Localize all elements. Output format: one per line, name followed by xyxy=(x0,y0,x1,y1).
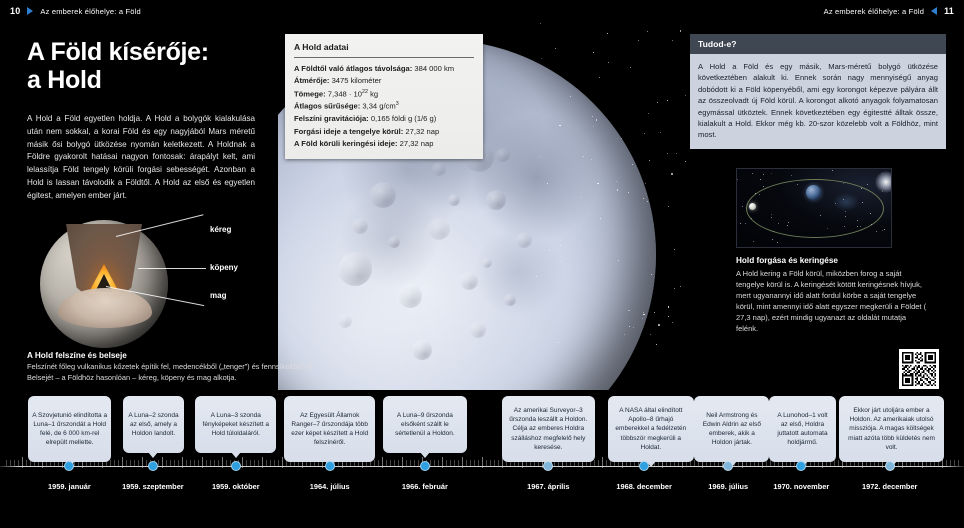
leader-line-mantle xyxy=(138,268,206,269)
moon-cutaway-diagram: kéreg köpeny mag xyxy=(32,218,282,348)
star xyxy=(549,249,551,251)
timeline-event-dot[interactable] xyxy=(796,461,806,471)
timeline-event-text: A NASA által elindított Apollo–8 űrhajó … xyxy=(612,406,690,452)
moon-crater xyxy=(516,232,532,248)
timeline-axis xyxy=(0,466,964,467)
timeline-event-text: A Lunohod–1 volt az első, Holdra juttato… xyxy=(773,411,831,448)
star xyxy=(778,223,779,224)
moon-fact-row: A Föld körüli keringési ideje: 27,32 nap xyxy=(294,138,474,150)
header-left: 10 Az emberek élőhelye: a Föld xyxy=(10,6,141,16)
star xyxy=(763,186,764,187)
star xyxy=(649,160,650,161)
star xyxy=(772,239,773,240)
star xyxy=(870,213,871,214)
star xyxy=(674,249,675,250)
moon-crater xyxy=(412,340,432,360)
triangle-left-icon[interactable] xyxy=(931,7,937,15)
star xyxy=(668,316,670,318)
star xyxy=(624,334,625,335)
moon-crater xyxy=(486,190,506,210)
timeline-event-dot[interactable] xyxy=(231,461,241,471)
star xyxy=(763,174,764,175)
timeline-event-dot[interactable] xyxy=(420,461,430,471)
moon-fact-label: Átmérője: xyxy=(294,76,332,85)
star xyxy=(860,226,861,227)
timeline-event-text: A Luna–3 szonda fényképeket készített a … xyxy=(199,411,272,439)
moon-facts-title: A Hold adatai xyxy=(294,42,474,57)
star xyxy=(676,153,677,154)
moon-crater xyxy=(370,182,396,208)
timeline-event-card[interactable]: A Szovjetunió elindította a Luna–1 űrszo… xyxy=(28,396,111,462)
star xyxy=(876,231,877,232)
star xyxy=(570,96,571,97)
star xyxy=(650,334,651,335)
star xyxy=(555,48,556,49)
timeline-event-text: A Luna–9 űrszonda elsőként szállt le sér… xyxy=(387,411,463,439)
star xyxy=(884,229,885,230)
star xyxy=(674,288,675,289)
star xyxy=(541,58,542,59)
star xyxy=(608,62,609,63)
moon-facts-rows: A Földtől való átlagos távolsága: 384 00… xyxy=(294,63,474,150)
orbit-caption-body: A Hold kering a Föld körül, miközben for… xyxy=(736,268,928,335)
timeline-event-text: Neil Armstrong és Edwin Aldrin az első e… xyxy=(698,411,765,448)
did-you-know-title: Tudod-e? xyxy=(690,34,946,54)
timeline-event-card[interactable]: A Luna–2 szonda az első, amely a Holdon … xyxy=(123,396,184,453)
star xyxy=(672,322,673,323)
moon-fact-value: 3,34 g/cm xyxy=(362,102,395,111)
moon-fact-row: Átmérője: 3475 kilométer xyxy=(294,75,474,87)
sun-glow-icon xyxy=(875,171,892,193)
page-spread: 10 Az emberek élőhelye: a Föld Az embere… xyxy=(0,0,964,528)
star xyxy=(647,31,648,32)
triangle-right-icon[interactable] xyxy=(27,7,33,15)
star xyxy=(657,102,658,103)
moon-crater xyxy=(388,236,400,248)
star xyxy=(672,40,673,41)
moon-fact-value: 3475 kilométer xyxy=(332,76,382,85)
moon-fact-value: 27,32 nap xyxy=(405,127,439,136)
cutaway-label-crust: kéreg xyxy=(210,225,231,234)
star xyxy=(658,324,660,326)
star xyxy=(685,161,686,162)
timeline-event-text: Az Egyesült Államok Ranger–7 űrszondája … xyxy=(288,411,371,448)
star xyxy=(827,228,828,229)
star xyxy=(667,100,668,101)
moon-fact-label: Tömege: xyxy=(294,89,328,98)
star xyxy=(656,344,657,345)
moon-fact-value: 7,348 · 10 xyxy=(328,89,362,98)
star xyxy=(753,241,754,242)
star xyxy=(560,261,561,262)
star xyxy=(621,138,622,139)
intro-paragraph: A Hold a Föld egyetlen holdja. A Hold a … xyxy=(27,113,255,202)
moon-crater xyxy=(504,294,516,306)
star xyxy=(633,327,634,328)
page-title-line-1: A Föld kísérője: xyxy=(27,38,277,66)
timeline-event-card[interactable]: Ekkor járt utoljára ember a Holdon. Az a… xyxy=(839,396,943,462)
timeline-event-dot[interactable] xyxy=(148,461,158,471)
star xyxy=(832,170,833,171)
cutaway-label-core: mag xyxy=(210,291,226,300)
timeline-event-text: Ekkor járt utoljára ember a Holdon. Az a… xyxy=(843,406,939,452)
star xyxy=(755,193,756,194)
star xyxy=(528,326,529,327)
star xyxy=(654,312,655,313)
star xyxy=(651,274,652,275)
page-number-right: 11 xyxy=(944,6,954,16)
star xyxy=(797,184,798,185)
star xyxy=(752,173,753,174)
moon-fact-value: 0,165 földi g (1/6 g) xyxy=(371,114,436,123)
star xyxy=(660,132,661,133)
timeline-event-dot[interactable] xyxy=(543,461,553,471)
page-number-left: 10 xyxy=(10,6,20,16)
cutaway-caption-body: Felszínét főleg vulkanikus kőzetek építi… xyxy=(27,362,333,383)
header-title-right: Az emberek élőhelye: a Föld xyxy=(824,7,924,16)
timeline-event-card[interactable]: Neil Armstrong és Edwin Aldrin az első e… xyxy=(694,396,769,462)
moon-fact-value: 384 000 km xyxy=(414,64,454,73)
star xyxy=(867,184,868,185)
star xyxy=(599,77,600,78)
did-you-know-box: Tudod-e? A Hold a Föld és egy másik, Mar… xyxy=(690,34,946,149)
moon-crater xyxy=(470,322,486,338)
page-title: A Föld kísérője: a Hold xyxy=(27,38,277,94)
moon-fact-label: A Föld körüli keringési ideje: xyxy=(294,139,400,148)
star xyxy=(668,206,669,207)
timeline-event-text: A Luna–2 szonda az első, amely a Holdon … xyxy=(127,411,180,439)
moon-crater xyxy=(496,148,510,162)
header-right: Az emberek élőhelye: a Föld 11 xyxy=(824,6,954,16)
moon-crater xyxy=(428,218,450,240)
timeline-event-dot[interactable] xyxy=(325,461,335,471)
timeline-event-dot[interactable] xyxy=(64,461,74,471)
star xyxy=(671,173,673,175)
timeline-event-card[interactable]: A Luna–3 szonda fényképeket készített a … xyxy=(195,396,276,453)
moon-icon xyxy=(749,203,756,210)
header-title-left: Az emberek élőhelye: a Föld xyxy=(40,7,140,16)
timeline-event-card[interactable]: A Luna–9 űrszonda elsőként szállt le sér… xyxy=(383,396,467,453)
moon-crater xyxy=(338,314,352,328)
star xyxy=(791,175,792,176)
star xyxy=(740,223,741,224)
star xyxy=(540,23,541,24)
moon-fact-label: A Földtől való átlagos távolsága: xyxy=(294,64,414,73)
moon-fact-row: Forgási ideje a tengelye körül: 27,32 na… xyxy=(294,126,474,138)
star xyxy=(645,183,646,184)
cutaway-caption-title: A Hold felszíne és belseje xyxy=(27,351,127,360)
moon-facts-box: A Hold adatai A Földtől való átlagos táv… xyxy=(285,34,483,159)
timeline-event-card[interactable]: Az Egyesült Államok Ranger–7 űrszondája … xyxy=(284,396,375,462)
moon-fact-exponent: 3 xyxy=(396,101,399,107)
moon-fact-value: 27,32 nap xyxy=(400,139,434,148)
timeline-event-date: 1972. december xyxy=(830,482,950,491)
star xyxy=(882,230,883,231)
timeline-event-card[interactable]: A Lunohod–1 volt az első, Holdra juttato… xyxy=(769,396,835,462)
qr-code-icon[interactable] xyxy=(899,349,939,389)
did-you-know-body: A Hold a Föld és egy másik, Mars-méretű … xyxy=(690,54,946,149)
orbit-caption-title: Hold forgása és keringése xyxy=(736,256,946,265)
cutaway-label-mantle: köpeny xyxy=(210,263,238,272)
star xyxy=(592,116,593,117)
moon-fact-label: Felszíni gravitációja: xyxy=(294,114,371,123)
star xyxy=(607,33,608,34)
star xyxy=(742,206,743,207)
star xyxy=(560,245,561,246)
orbit-diagram-image xyxy=(736,168,892,248)
star xyxy=(680,286,681,287)
star xyxy=(685,95,686,96)
star xyxy=(680,30,682,32)
qr-code-svg xyxy=(902,352,936,386)
star xyxy=(667,153,668,154)
star xyxy=(558,342,559,343)
star xyxy=(745,223,746,224)
timeline-event-dot[interactable] xyxy=(885,461,895,471)
moon-crater xyxy=(460,272,478,290)
earth-icon xyxy=(806,185,821,200)
timeline-event-dot[interactable] xyxy=(639,461,649,471)
moon-crater xyxy=(398,284,422,308)
page-header: 10 Az emberek élőhelye: a Föld Az embere… xyxy=(0,0,964,22)
moon-fact-row: Felszíni gravitációja: 0,165 földi g (1/… xyxy=(294,113,474,125)
timeline-event-text: Az amerikai Surveyor–3 űrszonda leszállt… xyxy=(506,406,591,452)
star xyxy=(648,113,649,114)
moon-crater xyxy=(448,194,460,206)
star xyxy=(760,179,761,180)
timeline-event-dot[interactable] xyxy=(723,461,733,471)
timeline-event-card[interactable]: Az amerikai Surveyor–3 űrszonda leszállt… xyxy=(502,396,595,462)
moon-fact-row: Tömege: 7,348 · 1022 kg xyxy=(294,88,474,101)
star xyxy=(771,173,772,174)
moon-fact-label: Forgási ideje a tengelye körül: xyxy=(294,127,405,136)
moon-crater xyxy=(482,258,492,268)
moon-fact-label: Átlagos sűrűsége: xyxy=(294,102,362,111)
timeline-event-card[interactable]: A NASA által elindított Apollo–8 űrhajó … xyxy=(608,396,694,462)
timeline-cards: A Szovjetunió elindította a Luna–1 űrszo… xyxy=(0,396,964,462)
page-title-line-2: a Hold xyxy=(27,66,277,94)
moon-facts-divider xyxy=(294,57,474,58)
star xyxy=(737,179,738,180)
moon-fact-row: A Földtől való átlagos távolsága: 384 00… xyxy=(294,63,474,75)
timeline-event-date: 1966. február xyxy=(365,482,485,491)
moon-fact-value-tail: kg xyxy=(368,89,378,98)
star xyxy=(638,40,639,41)
star xyxy=(630,67,631,68)
star xyxy=(593,52,594,53)
star xyxy=(668,306,670,308)
timeline-event-text: A Szovjetunió elindította a Luna–1 űrszo… xyxy=(32,411,107,448)
star xyxy=(861,188,862,189)
moon-crater xyxy=(432,162,446,176)
moon-fact-row: Átlagos sűrűsége: 3,34 g/cm3 xyxy=(294,100,474,113)
moon-crater xyxy=(352,218,368,234)
star xyxy=(644,133,645,134)
star xyxy=(777,242,778,243)
moon-crater xyxy=(338,252,372,286)
